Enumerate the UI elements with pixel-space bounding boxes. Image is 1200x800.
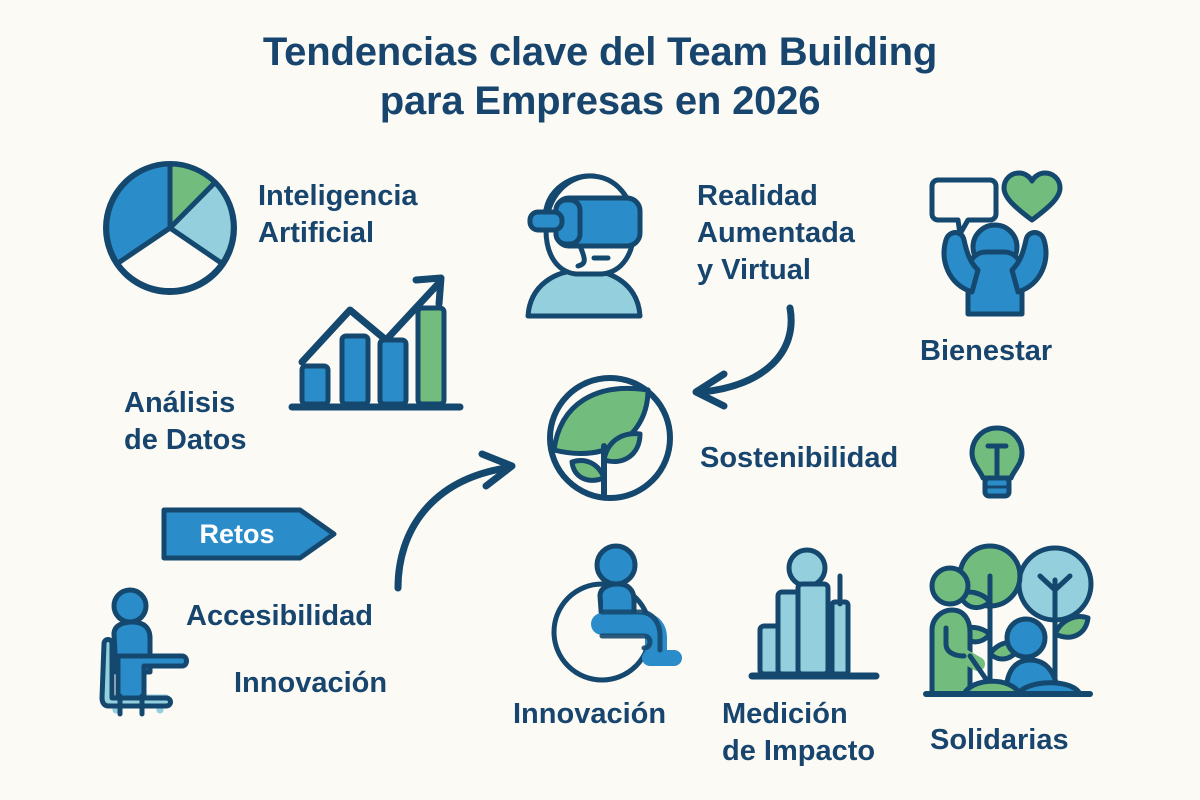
label-solidarias: Solidarias bbox=[930, 722, 1069, 759]
pie-chart-icon bbox=[100, 158, 240, 298]
bar-chart-growth-icon bbox=[288, 262, 464, 420]
infographic-canvas: Tendencias clave del Team Building para … bbox=[0, 0, 1200, 800]
label-innovacion-left: Innovación bbox=[234, 665, 387, 702]
label-realidad-aumentada-virtual: Realidad Aumentada y Virtual bbox=[697, 178, 855, 289]
retos-badge[interactable]: Retos bbox=[160, 506, 338, 562]
wheelchair-accessibility-icon bbox=[540, 540, 690, 690]
label-sostenibilidad: Sostenibilidad bbox=[700, 440, 898, 477]
label-inteligencia-artificial: Inteligencia Artificial bbox=[258, 178, 418, 252]
label-bienestar: Bienestar bbox=[920, 333, 1052, 370]
label-accesibilidad: Accesibilidad bbox=[186, 598, 373, 635]
community-planting-icon bbox=[922, 542, 1110, 714]
curved-arrow-up-right-icon bbox=[370, 440, 550, 600]
lightbulb-icon bbox=[966, 424, 1028, 504]
page-title-line-2: para Empresas en 2026 bbox=[0, 77, 1200, 126]
wellbeing-person-icon bbox=[928, 168, 1078, 318]
page-title-line-1: Tendencias clave del Team Building bbox=[0, 28, 1200, 77]
impact-bar-chart-icon bbox=[750, 548, 880, 688]
retos-badge-label: Retos bbox=[160, 506, 308, 562]
page-title: Tendencias clave del Team Building para … bbox=[0, 28, 1200, 126]
label-analisis-de-datos: Análisis de Datos bbox=[124, 385, 246, 459]
curved-arrow-down-left-icon bbox=[672, 300, 832, 410]
sustainability-leaf-icon bbox=[544, 372, 676, 504]
label-innovacion-center: Innovación bbox=[513, 696, 666, 733]
vr-headset-icon bbox=[510, 168, 660, 318]
label-medicion-de-impacto: Medición de Impacto bbox=[722, 696, 875, 770]
